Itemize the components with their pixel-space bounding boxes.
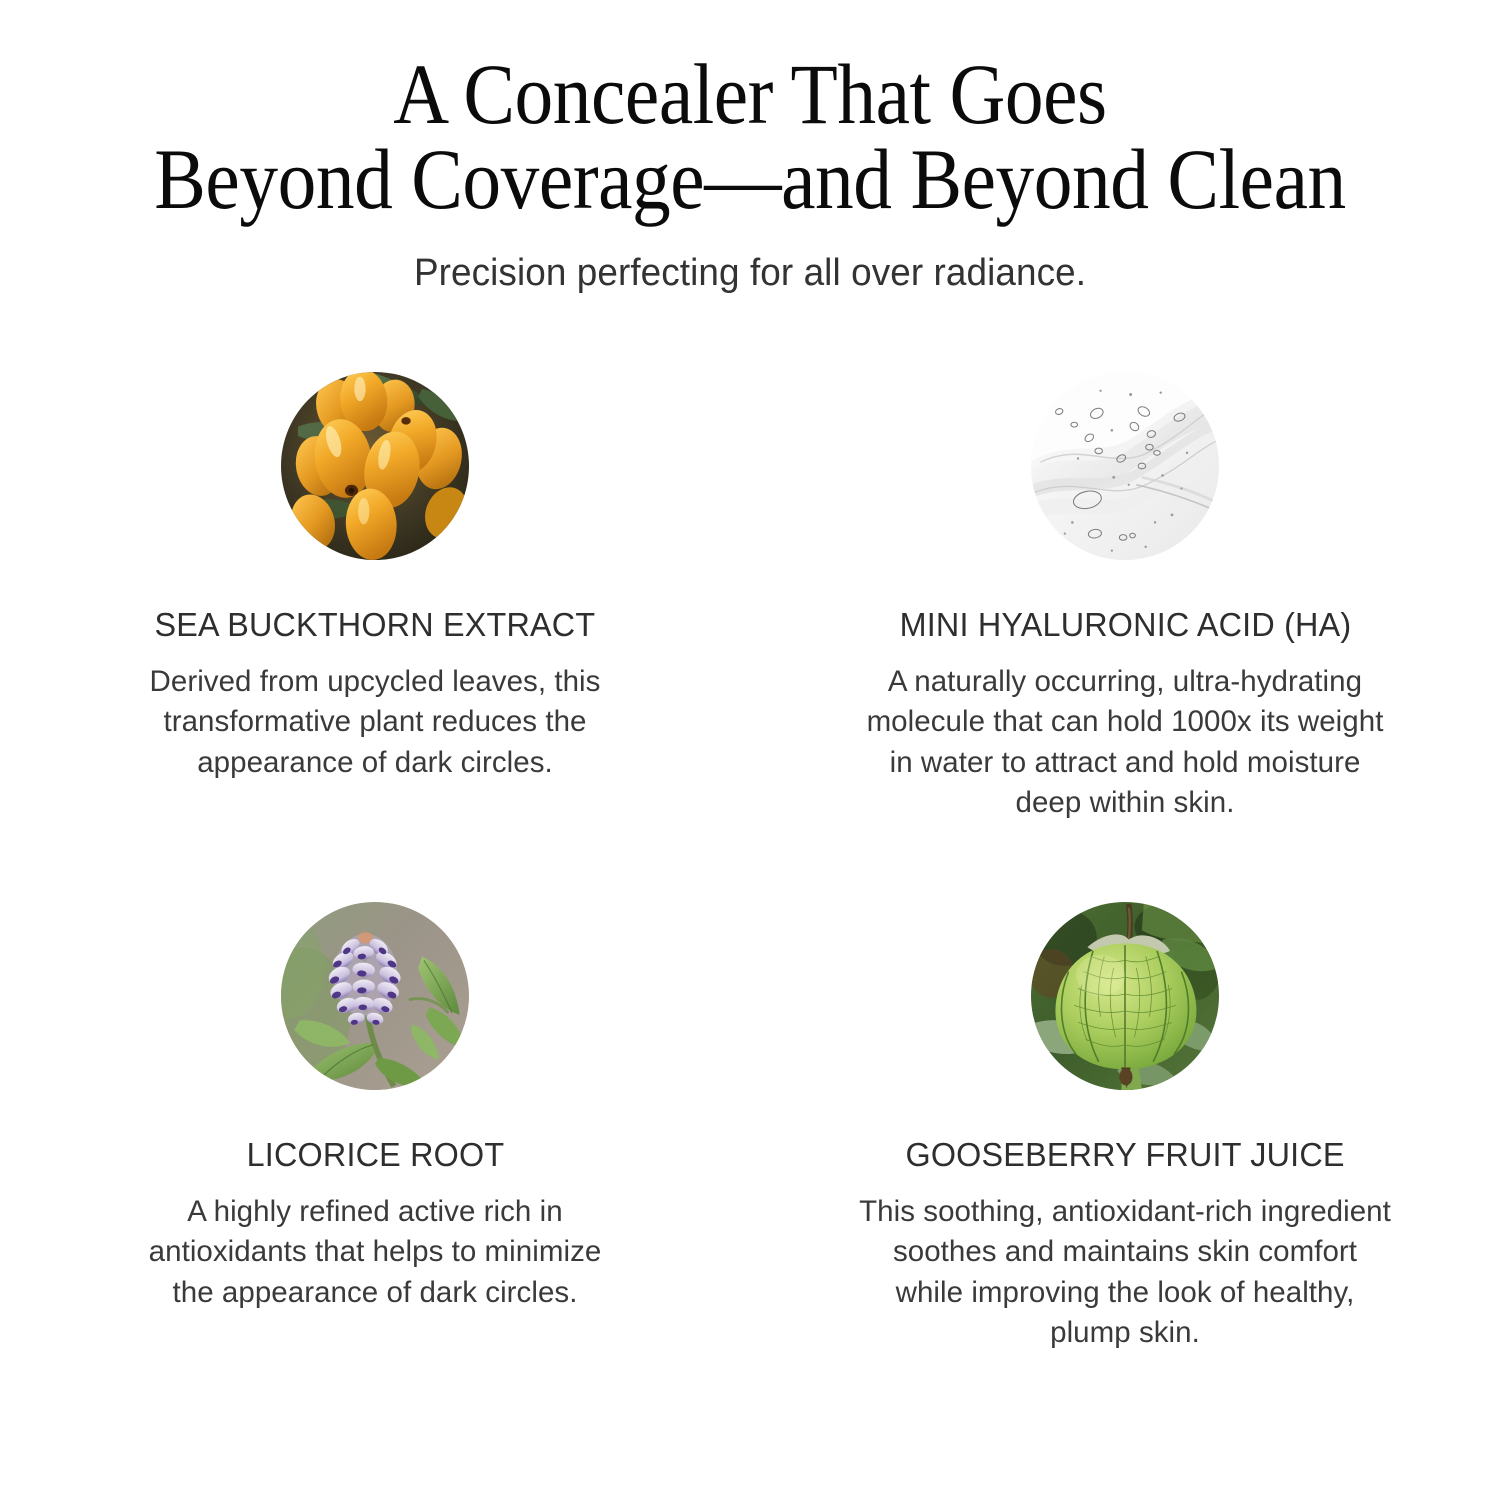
ingredient-card-sea-buckthorn: SEA BUCKTHORN EXTRACT Derived from upcyc… (0, 372, 750, 902)
ingredient-description: Derived from upcycled leaves, this trans… (150, 662, 601, 782)
ingredient-description: This soothing, antioxidant-rich ingredie… (859, 1192, 1391, 1352)
description-line: while improving the look of healthy, (859, 1273, 1391, 1313)
description-line: antioxidants that helps to minimize (149, 1232, 602, 1272)
description-line: Derived from upcycled leaves, this (150, 662, 601, 702)
page-header: A Concealer That Goes Beyond Coverage—an… (0, 0, 1500, 297)
ingredient-title: SEA BUCKTHORN EXTRACT (155, 607, 596, 643)
description-line: the appearance of dark circles. (149, 1273, 602, 1313)
description-line: plump skin. (859, 1313, 1391, 1353)
ingredient-description: A highly refined active rich in antioxid… (149, 1192, 602, 1312)
ingredient-description: A naturally occurring, ultra-hydrating m… (867, 662, 1384, 822)
description-line: A highly refined active rich in (149, 1192, 602, 1232)
description-line: molecule that can hold 1000x its weight (867, 702, 1384, 742)
description-line: A naturally occurring, ultra-hydrating (867, 662, 1384, 702)
description-line: This soothing, antioxidant-rich ingredie… (859, 1192, 1391, 1232)
page-title-line-1: A Concealer That Goes (147, 52, 1353, 137)
page-title-line-2: Beyond Coverage—and Beyond Clean (147, 137, 1353, 222)
ingredient-card-gooseberry: GOOSEBERRY FRUIT JUICE This soothing, an… (750, 902, 1500, 1432)
ingredient-card-licorice-root: LICORICE ROOT A highly refined active ri… (0, 902, 750, 1432)
page-subtitle: Precision perfecting for all over radian… (23, 251, 1478, 297)
ingredient-title: LICORICE ROOT (246, 1137, 504, 1173)
description-line: transformative plant reduces the (150, 702, 601, 742)
licorice-root-flower-photo (281, 902, 469, 1090)
gooseberry-fruit-husk-photo (1031, 902, 1219, 1090)
description-line: soothes and maintains skin comfort (859, 1232, 1391, 1272)
ingredients-grid: SEA BUCKTHORN EXTRACT Derived from upcyc… (0, 372, 1500, 1432)
ingredient-card-hyaluronic-acid: MINI HYALURONIC ACID (HA) A naturally oc… (750, 372, 1500, 902)
ingredient-title: GOOSEBERRY FRUIT JUICE (905, 1137, 1344, 1173)
description-line: appearance of dark circles. (150, 743, 601, 783)
sea-buckthorn-berries-photo (281, 372, 469, 560)
description-line: deep within skin. (867, 783, 1384, 823)
description-line: in water to attract and hold moisture (867, 743, 1384, 783)
ingredient-title: MINI HYALURONIC ACID (HA) (899, 607, 1351, 643)
page-title: A Concealer That Goes Beyond Coverage—an… (147, 52, 1353, 222)
ingredient-benefits-page: A Concealer That Goes Beyond Coverage—an… (0, 0, 1500, 1500)
hyaluronic-acid-gel-texture-photo (1031, 372, 1219, 560)
